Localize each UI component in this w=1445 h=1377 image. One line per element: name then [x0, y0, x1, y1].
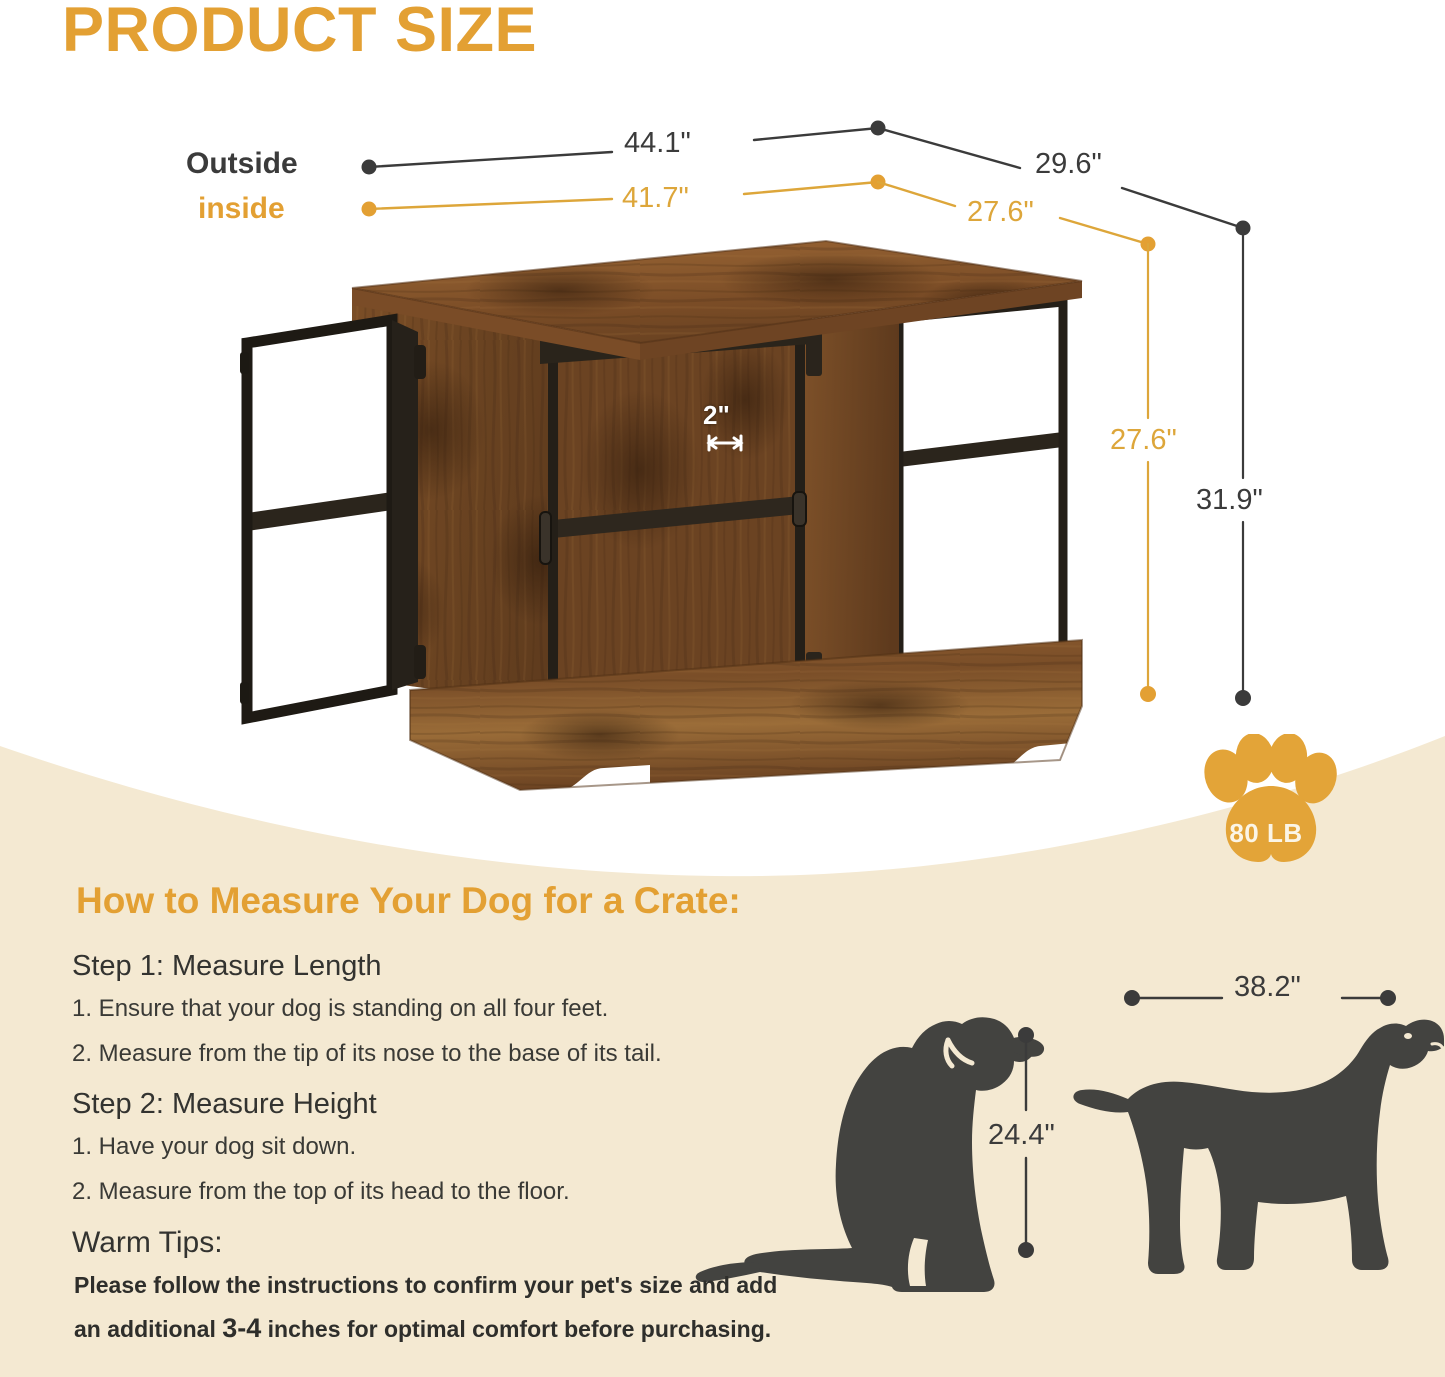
- legend-outside-label: Outside: [186, 147, 298, 181]
- dog-height-label: 24.4": [988, 1119, 1055, 1152]
- front-door-panel: [550, 320, 805, 720]
- warm-tips-emphasis: 3-4: [222, 1313, 261, 1343]
- warm-tips-line-2: an additional 3-4 inches for optimal com…: [74, 1313, 771, 1344]
- warm-tips-title: Warm Tips:: [72, 1226, 223, 1260]
- dimension-inside-depth: 27.6": [967, 196, 1034, 229]
- step2-line-1: 1. Have your dog sit down.: [72, 1133, 356, 1161]
- step2-title: Step 2: Measure Height: [72, 1088, 377, 1121]
- dog-length-label: 38.2": [1234, 971, 1301, 1004]
- warm-tips-line2-pre: an additional: [74, 1316, 222, 1342]
- dimension-outside-width: 44.1": [624, 127, 691, 160]
- weight-capacity-label: 80 LB: [1192, 818, 1340, 849]
- step1-title: Step 1: Measure Length: [72, 950, 382, 983]
- dimension-outside-height: 31.9": [1196, 484, 1263, 517]
- infographic-root: PRODUCT SIZE: [0, 0, 1445, 1377]
- dimension-lines: [362, 121, 1252, 707]
- page-title: PRODUCT SIZE: [62, 0, 537, 66]
- right-side-bars: [899, 301, 1063, 690]
- dimension-inside-width: 41.7": [622, 182, 689, 215]
- warm-tips-line-1: Please follow the instructions to confir…: [74, 1272, 777, 1299]
- step1-line-2: 2. Measure from the tip of its nose to t…: [72, 1040, 662, 1068]
- howto-heading: How to Measure Your Dog for a Crate:: [76, 880, 741, 922]
- dimension-outside-depth: 29.6": [1035, 148, 1102, 181]
- warm-tips-line2-post: inches for optimal comfort before purcha…: [261, 1316, 771, 1342]
- step1-line-1: 1. Ensure that your dog is standing on a…: [72, 995, 608, 1023]
- bar-spacing-arrow: [709, 436, 741, 450]
- open-crate-door: [240, 320, 426, 718]
- dimension-bar-spacing: 2": [703, 400, 730, 431]
- legend-inside-label: inside: [198, 192, 285, 226]
- step2-line-2: 2. Measure from the top of its head to t…: [72, 1178, 570, 1206]
- dimension-inside-height: 27.6": [1110, 424, 1177, 457]
